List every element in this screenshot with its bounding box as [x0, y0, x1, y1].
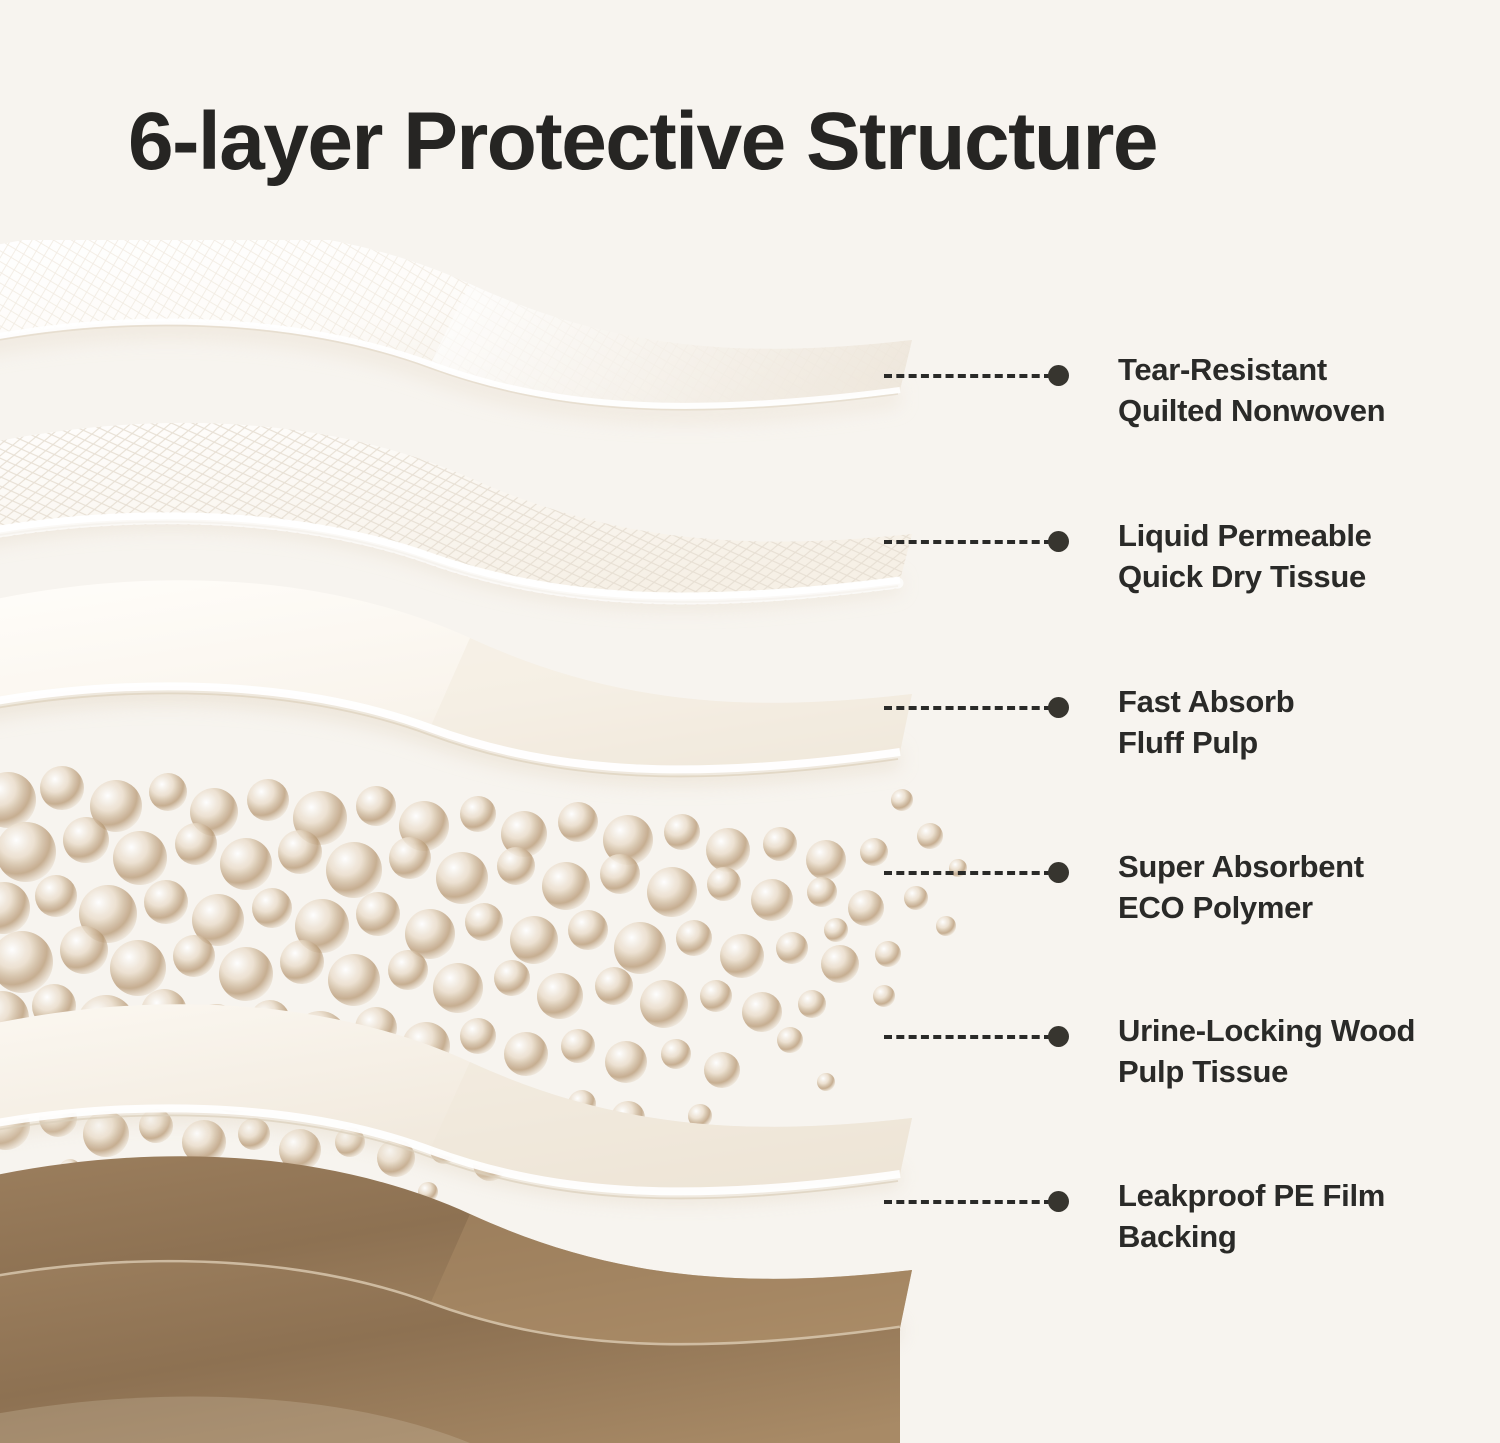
callout-2-line-2: Quick Dry Tissue [1118, 556, 1448, 597]
leader-line-1 [884, 374, 1052, 378]
callout-6-line-1: Leakproof PE Film [1118, 1178, 1385, 1213]
leader-line-6 [884, 1200, 1052, 1204]
callout-4-line-1: Super Absorbent [1118, 849, 1364, 884]
callout-label-6: Leakproof PE Film Backing [1118, 1175, 1448, 1257]
callout-label-2: Liquid Permeable Quick Dry Tissue [1118, 515, 1448, 597]
callout-label-3: Fast Absorb Fluff Pulp [1118, 681, 1448, 763]
leader-dot-3 [1048, 697, 1069, 718]
page-title: 6-layer Protective Structure [128, 96, 1378, 188]
leader-line-3 [884, 706, 1052, 710]
exploded-layer-diagram [0, 240, 1000, 1443]
callout-label-4: Super Absorbent ECO Polymer [1118, 846, 1448, 928]
leader-dot-4 [1048, 862, 1069, 883]
callout-6-line-2: Backing [1118, 1216, 1448, 1257]
layer-tear-resistant-quilted-nonwoven [0, 240, 912, 423]
leader-dot-5 [1048, 1026, 1069, 1047]
leader-line-4 [884, 871, 1052, 875]
callout-1-line-2: Quilted Nonwoven [1118, 390, 1448, 431]
leader-dot-6 [1048, 1191, 1069, 1212]
callout-label-5: Urine-Locking Wood Pulp Tissue [1118, 1010, 1448, 1092]
leader-dot-2 [1048, 531, 1069, 552]
callout-5-line-1: Urine-Locking Wood [1118, 1013, 1415, 1048]
layer-fast-absorb-fluff-pulp [0, 580, 912, 785]
callout-4-line-2: ECO Polymer [1118, 887, 1448, 928]
layer-stack-illustration [0, 240, 1000, 1443]
leader-line-2 [884, 540, 1052, 544]
leader-line-5 [884, 1035, 1052, 1039]
callout-label-1: Tear-Resistant Quilted Nonwoven [1118, 349, 1448, 431]
callout-3-line-2: Fluff Pulp [1118, 722, 1448, 763]
callout-1-line-1: Tear-Resistant [1118, 352, 1327, 387]
leader-dot-1 [1048, 365, 1069, 386]
callout-3-line-1: Fast Absorb [1118, 684, 1294, 719]
callout-2-line-1: Liquid Permeable [1118, 518, 1372, 553]
callout-5-line-2: Pulp Tissue [1118, 1051, 1448, 1092]
